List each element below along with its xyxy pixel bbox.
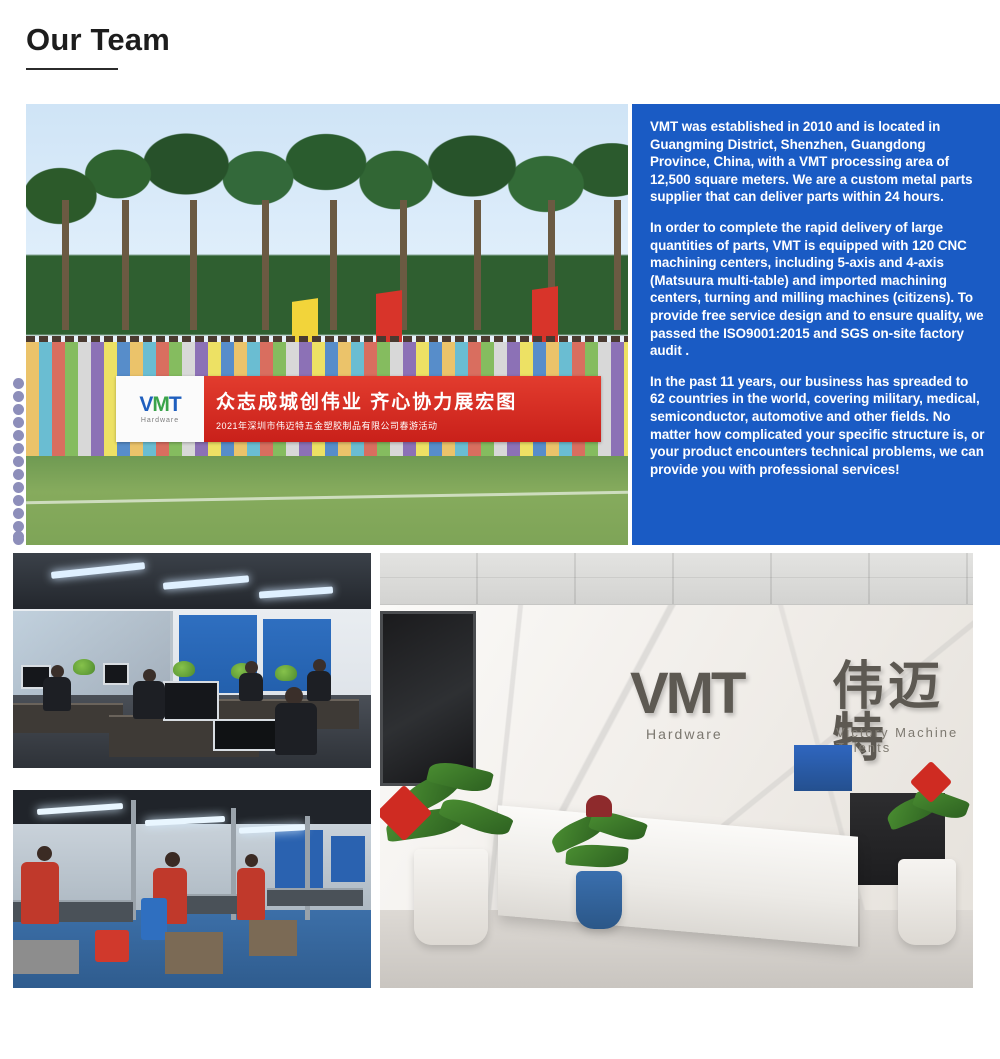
- info-paragraph-2: In order to complete the rapid delivery …: [650, 219, 986, 360]
- banner-logo: VMT Hardware: [116, 376, 204, 442]
- office-monitor-2: [103, 663, 129, 685]
- lobby-red-flower-center: [586, 795, 612, 817]
- workshop-pallet-stack: [13, 940, 79, 974]
- page-title: Our Team: [26, 22, 170, 58]
- banner-text: 众志成城创伟业 齐心协力展宏图 2021年深圳市伟迈特五金塑胶制品有限公司春游活…: [204, 387, 601, 432]
- lobby-wall-chinese-sub: Victory Machine Talents: [836, 725, 973, 755]
- decorative-dot: [13, 417, 24, 428]
- lobby-photo: VMT Hardware 伟迈特 Victory Machine Talents: [380, 553, 973, 988]
- decorative-dot: [13, 495, 24, 506]
- lobby-ceiling: [380, 553, 973, 605]
- workshop-worker-head-2: [165, 852, 180, 867]
- banner-logo-sub: Hardware: [141, 417, 179, 424]
- office-person-2: [133, 681, 165, 719]
- title-underline: [26, 68, 118, 70]
- lobby-tv-screen: [380, 611, 476, 786]
- lobby-wall-logo: VMT Hardware: [630, 665, 743, 742]
- office-plant-1: [73, 659, 95, 675]
- workshop-worker-head-3: [245, 854, 258, 867]
- info-paragraph-1: VMT was established in 2010 and is locat…: [650, 118, 986, 206]
- office-monitor-3: [163, 681, 219, 721]
- office-person-4: [239, 673, 263, 701]
- lobby-planter-center: [576, 871, 622, 929]
- decorative-dot: [13, 469, 24, 480]
- banner-headline: 众志成城创伟业 齐心协力展宏图: [216, 387, 601, 414]
- info-paragraph-3: In the past 11 years, our business has s…: [650, 373, 986, 479]
- photo-banner: VMT Hardware 众志成城创伟业 齐心协力展宏图 2021年深圳市伟迈特…: [116, 376, 601, 442]
- workshop-blind-1: [275, 830, 323, 888]
- office-plant-4: [275, 665, 297, 681]
- decorative-dot: [13, 482, 24, 493]
- office-person-5: [307, 671, 331, 701]
- decorative-dot-column: [13, 378, 24, 547]
- workshop-crate-2: [249, 920, 297, 956]
- office-photo: [13, 553, 371, 768]
- office-plant-2: [173, 661, 195, 677]
- workshop-photo: [13, 790, 371, 988]
- banner-logo-mark: VMT: [139, 394, 180, 415]
- decorative-dot: [13, 378, 24, 389]
- lobby-logo-sub: Hardware: [646, 726, 743, 742]
- banner-subline: 2021年深圳市伟迈特五金塑胶制品有限公司春游活动: [216, 419, 601, 432]
- workshop-worker-3: [237, 868, 265, 920]
- lobby-planter-right: [898, 859, 956, 945]
- team-group-photo: VMT Hardware 众志成城创伟业 齐心协力展宏图 2021年深圳市伟迈特…: [26, 104, 628, 545]
- lobby-blue-crate: [794, 745, 852, 791]
- decorative-dot: [13, 404, 24, 415]
- lobby-logo-mark: VMT: [630, 665, 743, 723]
- decorative-dot: [13, 456, 24, 467]
- decorative-dot: [13, 391, 24, 402]
- decorative-dot: [13, 531, 24, 542]
- lobby-planter-left: [414, 849, 488, 945]
- decorative-dot: [13, 430, 24, 441]
- workshop-worker-head-1: [37, 846, 52, 861]
- workshop-crate-1: [165, 932, 223, 974]
- company-info-panel: VMT was established in 2010 and is locat…: [632, 104, 1000, 545]
- decorative-dot: [13, 508, 24, 519]
- workshop-chair-blue: [141, 898, 167, 940]
- office-person-3: [275, 703, 317, 755]
- workshop-blind-2: [331, 836, 365, 882]
- office-person-1: [43, 677, 71, 711]
- workshop-stool-red: [95, 930, 129, 962]
- workshop-bench-3: [267, 888, 363, 906]
- decorative-dot: [13, 443, 24, 454]
- workshop-worker-1: [21, 862, 59, 924]
